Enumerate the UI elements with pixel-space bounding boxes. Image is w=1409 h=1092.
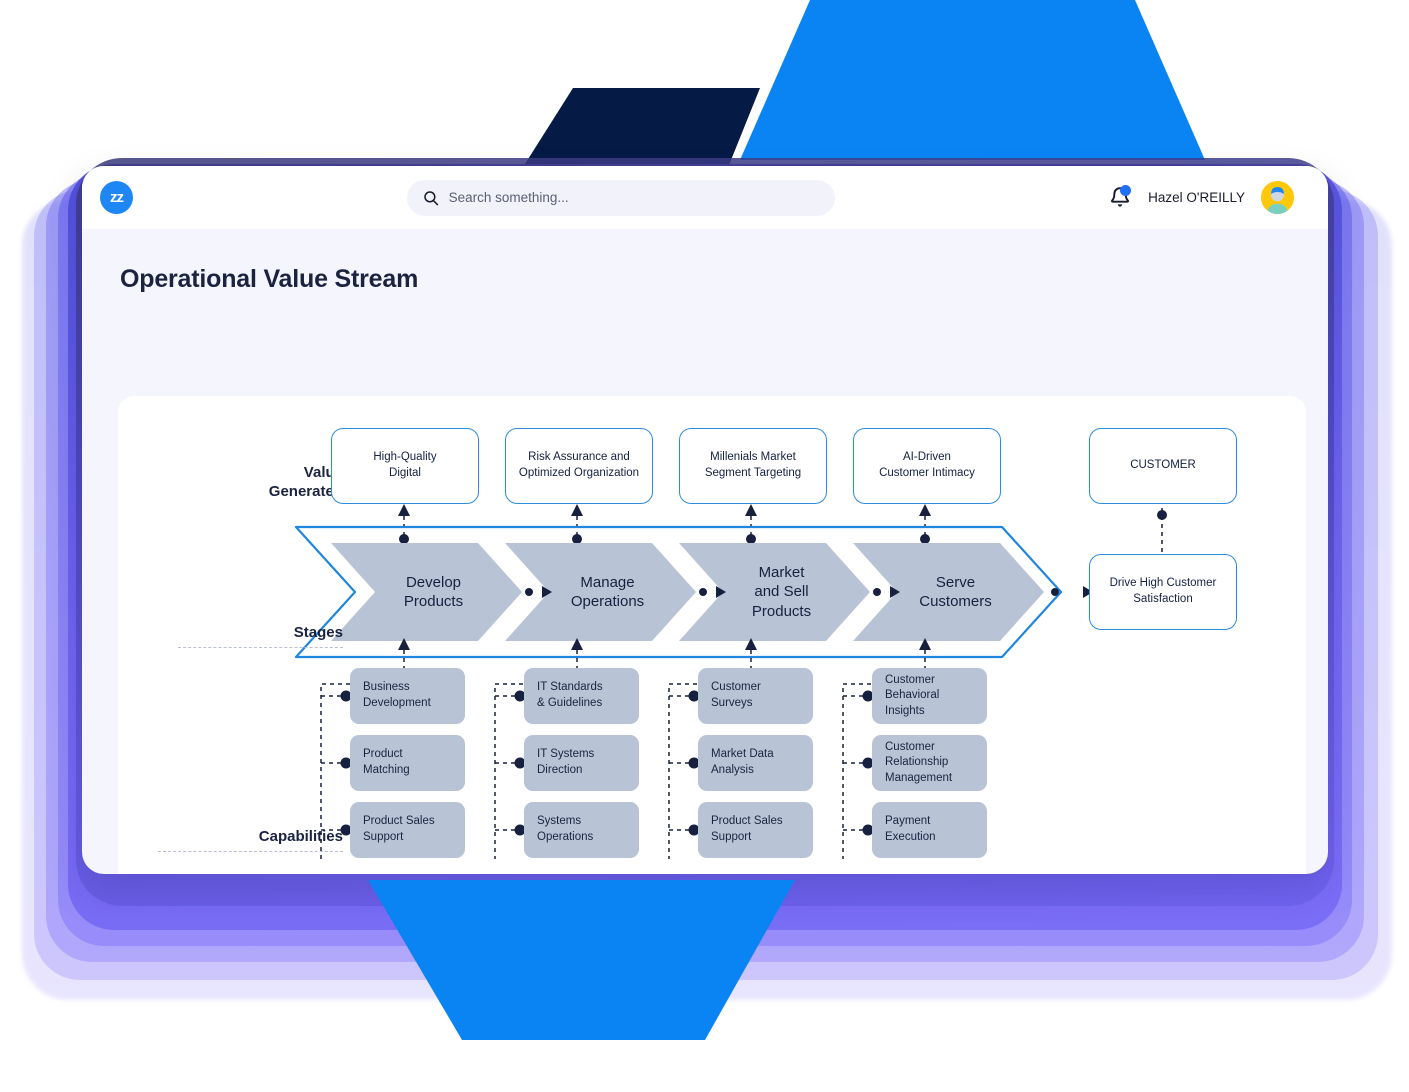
cap-4-2-line1: Customer	[885, 740, 952, 756]
value-stream-diagram: Value Generated Stages Capabilities	[118, 396, 1306, 874]
stage-2-line2: Operations	[571, 592, 644, 611]
cap-3-3-line1: Product Sales	[711, 814, 783, 830]
value-box-4-line1: AI-Driven	[879, 450, 975, 466]
cap-1-2-line2: Matching	[363, 763, 410, 779]
cap-4-1-line3: Insights	[885, 704, 939, 720]
capability-pill[interactable]: Customer Relationship Management	[872, 735, 987, 791]
cap-3-1-line1: Customer	[711, 680, 761, 696]
avatar[interactable]	[1261, 181, 1294, 214]
customer-box[interactable]: CUSTOMER	[1089, 428, 1237, 504]
capability-pill[interactable]: Product Sales Support	[350, 802, 465, 858]
cap-4-2-line3: Management	[885, 771, 952, 787]
stage-4-line1: Serve	[919, 573, 992, 592]
customer-box-label: CUSTOMER	[1130, 458, 1196, 474]
outcome-box[interactable]: Drive High Customer Satisfaction	[1089, 554, 1237, 630]
cap-3-1-line2: Surveys	[711, 696, 761, 712]
cap-3-2-line1: Market Data	[711, 747, 774, 763]
logo-mark-text: zz	[110, 190, 123, 205]
diagram-card: Value Generated Stages Capabilities	[118, 396, 1306, 874]
app-logo[interactable]: zz	[100, 181, 133, 214]
user-name-label: Hazel O'REILLY	[1148, 190, 1245, 205]
top-navigation-bar: zz Search something...	[82, 166, 1328, 229]
cap-1-2-line1: Product	[363, 747, 410, 763]
capability-pill[interactable]: Business Development	[350, 668, 465, 724]
cap-4-1-line2: Behavioral	[885, 688, 939, 704]
cap-2-2-line2: Direction	[537, 763, 594, 779]
search-placeholder-text: Search something...	[449, 190, 569, 205]
value-box-4[interactable]: AI-Driven Customer Intimacy	[853, 428, 1001, 504]
cap-1-3-line2: Support	[363, 830, 435, 846]
value-box-4-line2: Customer Intimacy	[879, 466, 975, 482]
row-label-capabilities: Capabilities	[158, 828, 343, 852]
screenshot-root: zz Search something...	[0, 0, 1409, 1092]
capability-pill[interactable]: Customer Surveys	[698, 668, 813, 724]
value-box-2-line1: Risk Assurance and	[519, 450, 639, 466]
stage-3-line3: Products	[752, 602, 811, 621]
stage-2-line1: Manage	[571, 573, 644, 592]
row-label-stages-text: Stages	[178, 624, 343, 643]
search-container: Search something...	[133, 180, 1108, 216]
capability-pill[interactable]: Payment Execution	[872, 802, 987, 858]
search-input[interactable]: Search something...	[407, 180, 835, 216]
capability-pill[interactable]: Market Data Analysis	[698, 735, 813, 791]
page-title: Operational Value Stream	[120, 265, 1300, 294]
value-box-1-line1: High-Quality	[373, 450, 436, 466]
cap-1-1-line1: Business	[363, 680, 431, 696]
value-box-3-line1: Millenials Market	[705, 450, 801, 466]
notification-indicator-dot	[1120, 185, 1131, 196]
stage-manage-operations[interactable]: Manage Operations	[505, 543, 696, 641]
row-label-capabilities-underline	[158, 851, 343, 852]
row-label-value-generated: Value Generated	[178, 464, 343, 502]
value-box-2-line2: Optimized Organization	[519, 466, 639, 482]
cap-3-3-line2: Support	[711, 830, 783, 846]
stage-4-line2: Customers	[919, 592, 992, 611]
stage-serve-customers[interactable]: Serve Customers	[853, 543, 1044, 641]
capability-pill[interactable]: Customer Behavioral Insights	[872, 668, 987, 724]
capability-pill[interactable]: IT Systems Direction	[524, 735, 639, 791]
outcome-box-line1: Drive High Customer	[1110, 576, 1217, 592]
row-label-capabilities-text: Capabilities	[158, 828, 343, 847]
stage-develop-products[interactable]: Develop Products	[331, 543, 522, 641]
search-icon	[423, 190, 439, 206]
topbar-right-group: Hazel O'REILLY	[1108, 181, 1294, 214]
cap-1-1-line2: Development	[363, 696, 431, 712]
cap-2-2-line1: IT Systems	[537, 747, 594, 763]
app-window: zz Search something...	[82, 166, 1328, 874]
cap-4-3-line2: Execution	[885, 830, 936, 846]
stage-market-and-sell-products[interactable]: Market and Sell Products	[679, 543, 870, 641]
stage-3-line2: and Sell	[752, 582, 811, 601]
capability-pill[interactable]: Product Matching	[350, 735, 465, 791]
cap-4-2-line2: Relationship	[885, 755, 952, 771]
value-box-2[interactable]: Risk Assurance and Optimized Organizatio…	[505, 428, 653, 504]
stage-3-line1: Market	[752, 563, 811, 582]
cap-4-3-line1: Payment	[885, 814, 936, 830]
capability-pill[interactable]: IT Standards & Guidelines	[524, 668, 639, 724]
row-label-value-line1: Value	[178, 464, 343, 483]
value-box-3-line2: Segment Targeting	[705, 466, 801, 482]
value-box-1-line2: Digital	[373, 466, 436, 482]
cap-2-3-line1: Systems	[537, 814, 593, 830]
page-body: Operational Value Stream	[82, 229, 1328, 874]
avatar-icon	[1261, 181, 1294, 214]
stage-1-line1: Develop	[404, 573, 463, 592]
cap-1-3-line1: Product Sales	[363, 814, 435, 830]
notification-bell-button[interactable]	[1108, 185, 1132, 211]
outcome-box-line2: Satisfaction	[1110, 592, 1217, 608]
value-box-1[interactable]: High-Quality Digital	[331, 428, 479, 504]
cap-2-3-line2: Operations	[537, 830, 593, 846]
capability-pill[interactable]: Product Sales Support	[698, 802, 813, 858]
cap-4-1-line1: Customer	[885, 673, 939, 689]
row-label-value-line2: Generated	[178, 483, 343, 502]
row-label-stages-underline	[178, 647, 343, 648]
stage-1-line2: Products	[404, 592, 463, 611]
row-label-stages: Stages	[178, 624, 343, 648]
cap-2-1-line2: & Guidelines	[537, 696, 603, 712]
value-box-3[interactable]: Millenials Market Segment Targeting	[679, 428, 827, 504]
cap-3-2-line2: Analysis	[711, 763, 774, 779]
cap-2-1-line1: IT Standards	[537, 680, 603, 696]
capability-pill[interactable]: Systems Operations	[524, 802, 639, 858]
